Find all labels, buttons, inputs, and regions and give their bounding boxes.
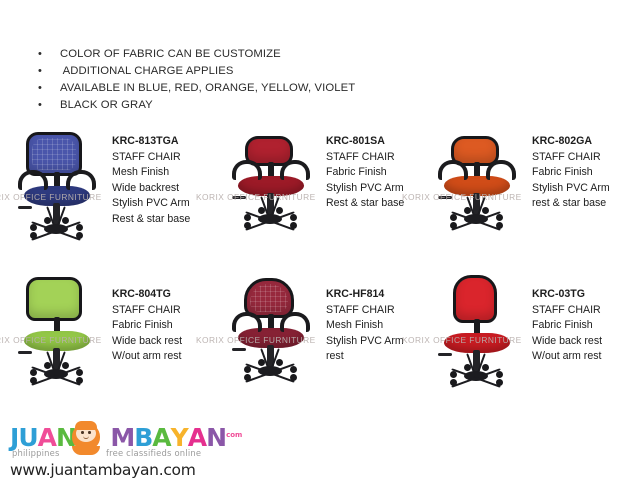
brand-wordmark: JUANTAMBAYANcom [10,422,310,449]
chair-caster [62,217,69,224]
chair-caster [30,232,37,239]
chair-caster [276,207,283,214]
product-photo: KORIX OFFICE FURNITURE [218,273,322,405]
spec-line: W/out arm rest [532,349,602,365]
site-logo-footer[interactable]: JUANTAMBAYANcom philippines free classif… [10,422,310,476]
product-specs: KRC-804TG STAFF CHAIR Fabric Finish Wide… [108,273,182,365]
product-specs: KRC-03TG STAFF CHAIR Fabric Finish Wide … [528,273,602,365]
spec-line: rest [326,349,404,365]
spec-line: Mesh Finish [112,165,190,181]
chair-caster [450,371,457,378]
tagline-right: free classifieds online [106,448,201,458]
chair-caster [482,364,489,371]
product-code: KRC-804TG [112,287,182,303]
chair-caster [496,371,503,378]
slide-canvas: • COLOR OF FABRIC CAN BE CUSTOMIZE • ADD… [0,0,640,480]
brand-tagline: philippines free classifieds online [10,448,310,460]
spec-line: STAFF CHAIR [326,303,404,319]
chair-caster [290,222,297,229]
spec-line: Wide backrest [112,181,190,197]
product-photo: KORIX OFFICE FURNITURE [4,273,108,405]
product-code: KRC-802GA [532,134,610,150]
bullet-icon: • [38,97,60,114]
chair-caster [30,369,37,376]
chair-caster [496,222,503,229]
chair-caster [30,224,37,231]
chair-caster [62,362,69,369]
spec-line: STAFF CHAIR [532,303,602,319]
product-code: KRC-03TG [532,287,602,303]
product-card: KORIX OFFICE FURNITURE KRC-801SA STAFF C… [218,128,431,268]
note-text: ADDITIONAL CHARGE APPLIES [60,63,234,80]
tagline-left: philippines [12,448,60,458]
product-code: KRC-801SA [326,134,404,150]
spec-line: W/out arm rest [112,349,182,365]
chair-backrest-frame [453,275,497,323]
note-text: COLOR OF FABRIC CAN BE CUSTOMIZE [60,46,281,63]
chair-caster [290,214,297,221]
chair-caster [76,377,83,384]
product-card: KORIX OFFICE FURNITURE KRC-03TG STAFF CH… [424,273,637,413]
product-photo: KORIX OFFICE FURNITURE [4,128,108,260]
chair-armrest-left [232,160,262,180]
chair-illustration-4 [218,273,322,405]
chair-height-lever [18,206,32,209]
site-url[interactable]: www.juantambayan.com [10,461,310,479]
chair-caster [496,214,503,221]
spec-line: Stylish PVC Arm [326,181,404,197]
product-specs: KRC-802GA STAFF CHAIR Fabric Finish Styl… [528,128,610,212]
chair-caster [244,366,251,373]
spec-line: Wide back rest [532,334,602,350]
product-specs: KRC-HF814 STAFF CHAIR Mesh Finish Stylis… [322,273,404,365]
chair-armrest-right [280,312,310,332]
chair-caster [30,377,37,384]
chair-armrest-right [486,160,516,180]
product-photo: KORIX OFFICE FURNITURE [424,273,528,405]
chair-caster [44,362,51,369]
chair-caster [482,207,489,214]
chair-caster [258,359,265,366]
chair-height-lever [232,196,246,199]
chair-caster [450,379,457,386]
spec-line: Fabric Finish [112,318,182,334]
spec-line: Rest & star base [326,196,404,212]
product-specs: KRC-801SA STAFF CHAIR Fabric Finish Styl… [322,128,404,212]
chair-illustration-0 [4,128,108,260]
chair-caster [276,359,283,366]
chair-height-lever [438,353,452,356]
chair-caster [464,364,471,371]
chair-caster [450,214,457,221]
spec-line: Fabric Finish [532,318,602,334]
chair-caster [244,222,251,229]
chair-caster [290,374,297,381]
list-item: • COLOR OF FABRIC CAN BE CUSTOMIZE [38,46,458,63]
chair-caster [76,369,83,376]
product-specs: KRC-813TGA STAFF CHAIR Mesh Finish Wide … [108,128,190,227]
list-item: • BLACK OR GRAY [38,97,458,114]
product-code: KRC-813TGA [112,134,190,150]
bullet-icon: • [38,46,60,63]
chair-armrest-right [66,170,96,190]
spec-line: Mesh Finish [326,318,404,334]
spec-line: rest & star base [532,196,610,212]
chair-caster [76,232,83,239]
chair-height-lever [232,348,246,351]
list-item: • AVAILABLE IN BLUE, RED, ORANGE, YELLOW… [38,80,458,97]
brand-tld: com [226,422,242,449]
product-code: KRC-HF814 [326,287,404,303]
features-note-list: • COLOR OF FABRIC CAN BE CUSTOMIZE • ADD… [38,46,458,114]
list-item: • ADDITIONAL CHARGE APPLIES [38,63,458,80]
chair-caster [44,217,51,224]
product-photo: KORIX OFFICE FURNITURE [424,128,528,260]
chair-caster [258,207,265,214]
chair-armrest-left [438,160,468,180]
chair-armrest-right [280,160,310,180]
bullet-icon: • [38,80,60,97]
product-photo: KORIX OFFICE FURNITURE [218,128,322,260]
note-text: AVAILABLE IN BLUE, RED, ORANGE, YELLOW, … [60,80,355,97]
spec-line: STAFF CHAIR [532,150,610,166]
bullet-icon: • [38,63,60,80]
product-grid: KORIX OFFICE FURNITURE KRC-813TGA STAFF … [0,128,640,408]
chair-backrest-frame [26,277,82,321]
chair-armrest-left [18,170,48,190]
chair-height-lever [438,196,452,199]
spec-line: Stylish PVC Arm [532,181,610,197]
chair-caster [244,214,251,221]
spec-line: Fabric Finish [326,165,404,181]
note-text: BLACK OR GRAY [60,97,153,114]
spec-line: Fabric Finish [532,165,610,181]
product-card: KORIX OFFICE FURNITURE KRC-802GA STAFF C… [424,128,637,268]
chair-height-lever [18,351,32,354]
spec-line: STAFF CHAIR [326,150,404,166]
spec-line: STAFF CHAIR [112,303,182,319]
chair-caster [464,207,471,214]
product-card: KORIX OFFICE FURNITURE KRC-804TG STAFF C… [4,273,217,413]
spec-line: Rest & star base [112,212,190,228]
mascot-icon [69,419,103,453]
chair-caster [290,366,297,373]
chair-armrest-left [232,312,262,332]
spec-line: Stylish PVC Arm [326,334,404,350]
spec-line: Wide back rest [112,334,182,350]
chair-illustration-2 [424,128,528,260]
chair-illustration-3 [4,273,108,405]
spec-line: STAFF CHAIR [112,150,190,166]
spec-line: Stylish PVC Arm [112,196,190,212]
product-card: KORIX OFFICE FURNITURE KRC-HF814 STAFF C… [218,273,431,413]
chair-illustration-5 [424,273,528,405]
chair-caster [496,379,503,386]
chair-illustration-1 [218,128,322,260]
chair-caster [76,224,83,231]
chair-caster [450,222,457,229]
chair-caster [244,374,251,381]
product-card: KORIX OFFICE FURNITURE KRC-813TGA STAFF … [4,128,217,268]
